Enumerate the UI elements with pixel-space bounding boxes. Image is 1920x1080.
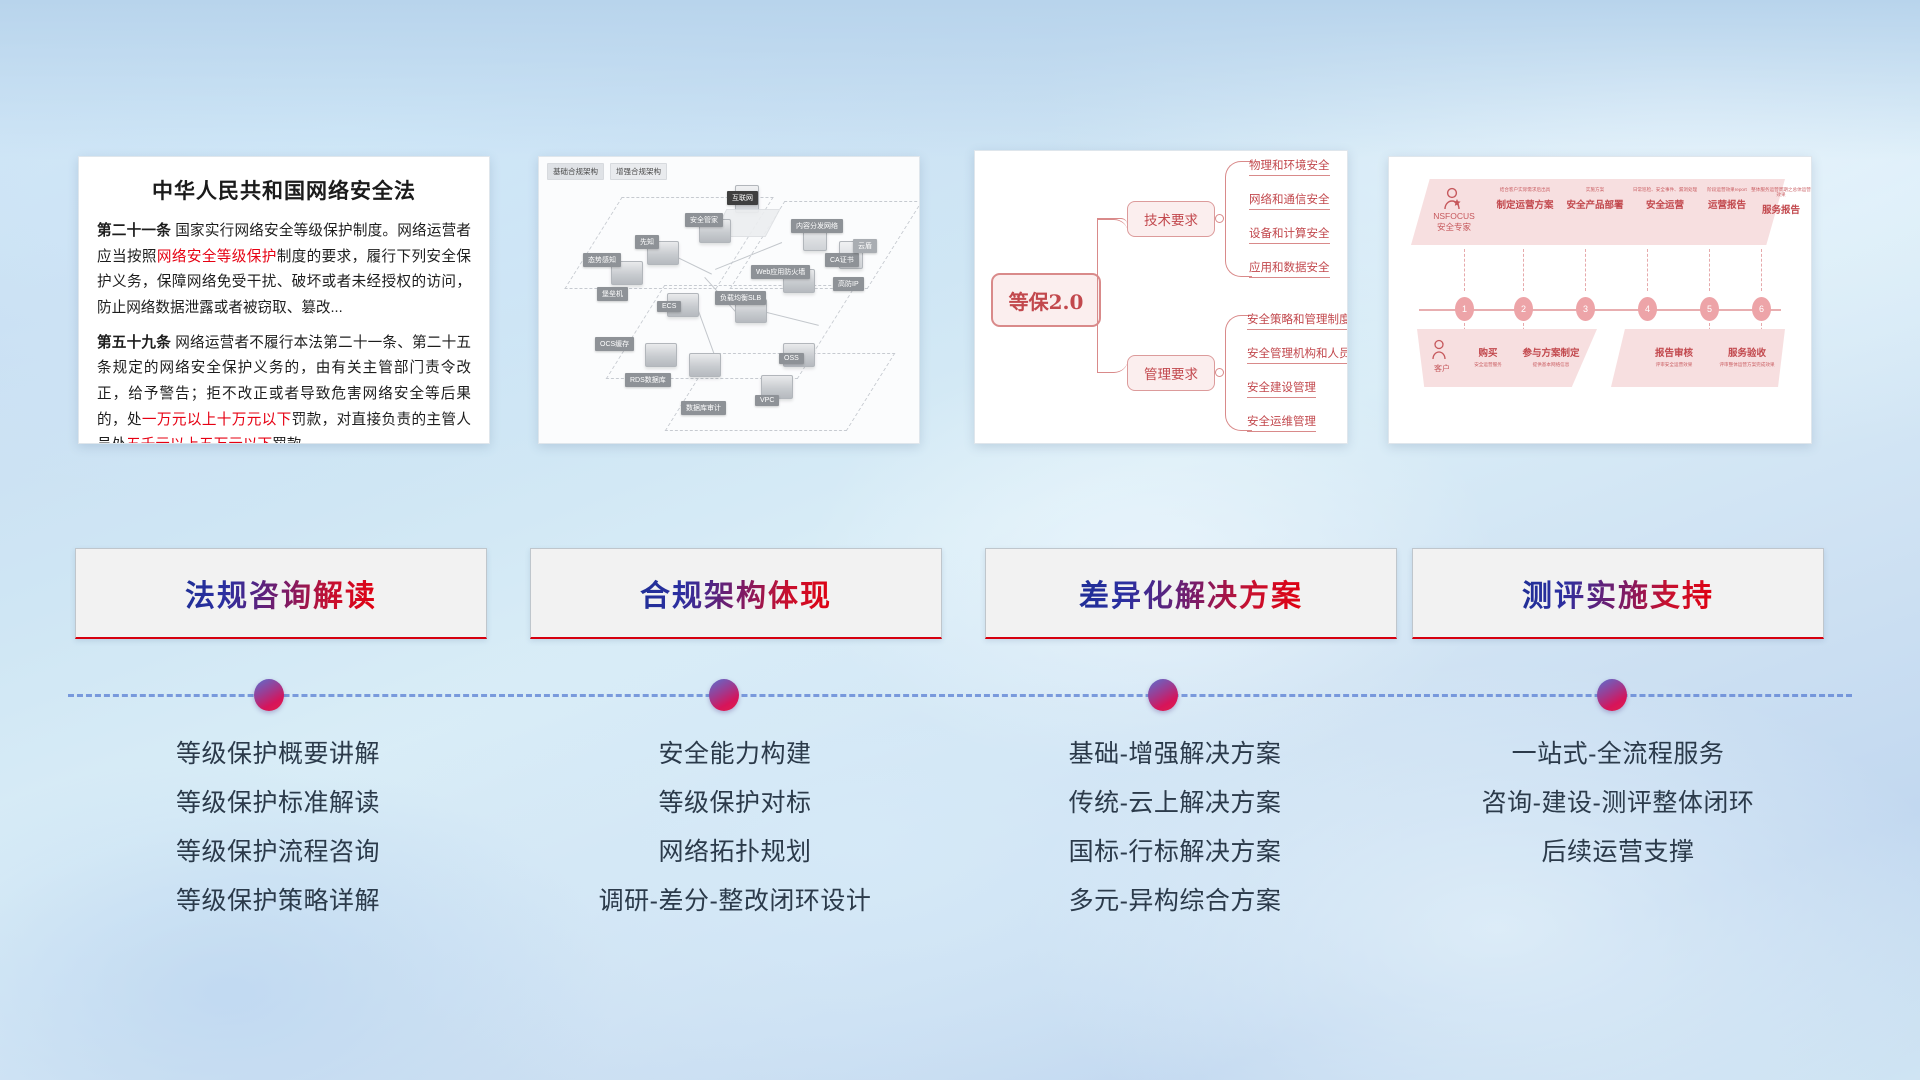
nsfocus-brand: NSFOCUS (1421, 211, 1487, 222)
feature-list-1: 等级保护概要讲解 等级保护标准解读 等级保护流程咨询 等级保护策略详解 (68, 742, 488, 938)
timeline-dashed-line (68, 694, 1852, 697)
title-label-4: 测评实施支持 (1522, 571, 1714, 615)
nsfocus-lower-left-2-desc: 提供基本网络信息 (1513, 362, 1589, 368)
mindmap-root-node[interactable]: 等保2.0 (991, 273, 1101, 327)
card-nsfocus-timeline[interactable]: NSFOCUS 安全专家 结合客户实际需求后出具 制定运营方案 实施方案 安全产… (1388, 156, 1812, 444)
list-item[interactable]: 等级保护流程咨询 (68, 840, 488, 865)
nsfocus-lower-right-1-title: 报告审核 (1641, 345, 1707, 359)
arch-node-anti-ddos-ip: 高防IP (833, 277, 864, 291)
mindmap-branch-management[interactable]: 管理要求 (1127, 355, 1215, 391)
nsfocus-drop-3 (1585, 249, 1586, 291)
feature-list-3-items: 基础-增强解决方案 传统-云上解决方案 国标-行标解决方案 多元-异构综合方案 (965, 742, 1385, 914)
arch-node-oss: OSS (779, 353, 804, 364)
timeline-dot-2[interactable] (709, 679, 739, 711)
list-item[interactable]: 调研-差分-整改闭环设计 (525, 889, 945, 914)
nsfocus-step-2[interactable]: 实施方案 安全产品部署 (1559, 187, 1631, 211)
nsfocus-drop-6 (1761, 249, 1762, 291)
nsfocus-drop-2 (1523, 249, 1524, 291)
arch-node-security-butler: 安全管家 (685, 213, 723, 227)
law-article-59-highlight-1: 一万元以上十万元以下 (142, 412, 292, 428)
nsfocus-lower-left-1-title: 购买 (1465, 345, 1511, 359)
nsfocus-lower-right-1-desc: 评审安全运营效果 (1641, 362, 1707, 368)
mindmap-leaf-tech-4[interactable]: 应用和数据安全 (1249, 259, 1330, 278)
arch-node-waf: Web应用防火墙 (751, 265, 810, 279)
law-article-21-label: 第二十一条 (97, 223, 171, 239)
arch-node-xianzhi: 先知 (635, 235, 659, 249)
mindmap-collapse-dot-management[interactable] (1215, 368, 1224, 377)
feature-list-2: 安全能力构建 等级保护对标 网络拓扑规划 调研-差分-整改闭环设计 (525, 742, 945, 938)
mindmap-leaf-mgmt-3[interactable]: 安全建设管理 (1247, 379, 1316, 398)
nsfocus-step-1-sub: 结合客户实际需求后出具 (1489, 187, 1561, 192)
nsfocus-lower-left-1[interactable]: 购买 安全运营服务 (1465, 345, 1511, 368)
title-box-compliance-architecture[interactable]: 合规架构体现 (530, 548, 942, 639)
architecture-tab-enhanced[interactable]: 增强合规架构 (610, 163, 667, 180)
list-item[interactable]: 传统-云上解决方案 (965, 791, 1385, 816)
arch-node-cdn: 内容分发网络 (791, 219, 843, 233)
list-item[interactable]: 等级保护概要讲解 (68, 742, 488, 767)
feature-list-2-items: 安全能力构建 等级保护对标 网络拓扑规划 调研-差分-整改闭环设计 (525, 742, 945, 914)
architecture-tab-group[interactable]: 基础合规架构 增强合规架构 (547, 163, 667, 180)
nsfocus-milestone-6[interactable]: 6 (1752, 297, 1771, 321)
nsfocus-lower-right-2-desc: 评审整体运营方案完成效果 (1711, 362, 1783, 368)
arch-node-situational-awareness: 态势感知 (583, 253, 621, 267)
arch-node-bastion: 堡垒机 (597, 287, 628, 301)
law-article-21: 第二十一条 国家实行网络安全等级保护制度。网络运营者应当按照网络安全等级保护制度… (97, 219, 471, 322)
nsfocus-lower-right-1[interactable]: 报告审核 评审安全运营效果 (1641, 345, 1707, 368)
nsfocus-drop-5 (1709, 249, 1710, 291)
list-item[interactable]: 基础-增强解决方案 (965, 742, 1385, 767)
feature-list-4-items: 一站式-全流程服务 咨询-建设-测评整体闭环 后续运营支撑 (1408, 742, 1828, 865)
nsfocus-step-2-sub: 实施方案 (1559, 187, 1631, 192)
feature-list-1-items: 等级保护概要讲解 等级保护标准解读 等级保护流程咨询 等级保护策略详解 (68, 742, 488, 914)
architecture-tab-basic[interactable]: 基础合规架构 (547, 163, 604, 180)
arch-node-ca-cert: CA证书 (825, 253, 859, 267)
list-item[interactable]: 国标-行标解决方案 (965, 840, 1385, 865)
list-item[interactable]: 咨询-建设-测评整体闭环 (1408, 791, 1828, 816)
nsfocus-step-5-main: 服务报告 (1749, 202, 1812, 216)
title-label-2: 合规架构体现 (640, 571, 832, 615)
mindmap-canvas: 等保2.0 技术要求 管理要求 物理和环境安全 网络和通信安全 设备和计算安全 … (975, 151, 1347, 443)
law-body: 中华人民共和国网络安全法 第二十一条 国家实行网络安全等级保护制度。网络运营者应… (79, 157, 489, 443)
law-article-59-label: 第五十九条 (97, 335, 171, 351)
nsfocus-canvas: NSFOCUS 安全专家 结合客户实际需求后出具 制定运营方案 实施方案 安全产… (1389, 157, 1811, 443)
mindmap-leaf-tech-2[interactable]: 网络和通信安全 (1249, 191, 1330, 210)
architecture-canvas: 基础合规架构 增强合规架构 (539, 157, 919, 443)
arch-node-slb: 负载均衡SLB (715, 291, 766, 305)
nsfocus-lower-left-1-desc: 安全运营服务 (1465, 362, 1511, 368)
mindmap-collapse-dot-technical[interactable] (1215, 214, 1224, 223)
nsfocus-lower-right-2-title: 服务验收 (1711, 345, 1783, 359)
feature-list-4: 一站式-全流程服务 咨询-建设-测评整体闭环 后续运营支撑 (1408, 742, 1828, 889)
arch-node-ecs: ECS (657, 301, 681, 312)
nsfocus-expert-label: NSFOCUS 安全专家 (1421, 185, 1487, 232)
title-label-1: 法规咨询解读 (185, 571, 377, 615)
nsfocus-lower-left-2-title: 参与方案制定 (1513, 345, 1589, 359)
timeline-dot-1[interactable] (254, 679, 284, 711)
list-item[interactable]: 等级保护标准解读 (68, 791, 488, 816)
nsfocus-step-5-sub: 整体服务运营周期之总体运营效果 (1749, 187, 1812, 197)
law-article-59-text-c: 罚款。 (272, 437, 316, 444)
list-item[interactable]: 等级保护对标 (525, 791, 945, 816)
timeline-dot-4[interactable] (1597, 679, 1627, 711)
nsfocus-step-1-main: 制定运营方案 (1489, 197, 1561, 211)
law-article-21-highlight: 网络安全等级保护 (157, 249, 277, 265)
screenshot-card-row: 中华人民共和国网络安全法 第二十一条 国家实行网络安全等级保护制度。网络运营者应… (0, 0, 1920, 460)
arch-node-yundun: 云盾 (853, 239, 877, 253)
timeline-dot-3[interactable] (1148, 679, 1178, 711)
title-box-differentiated-solution[interactable]: 差异化解决方案 (985, 548, 1397, 639)
list-item[interactable]: 后续运营支撑 (1408, 840, 1828, 865)
nsfocus-step-3-sub: 日常巡检、安全事件、漏洞处理 (1627, 187, 1703, 192)
title-box-regulation-consulting[interactable]: 法规咨询解读 (75, 548, 487, 639)
title-box-assessment-support[interactable]: 测评实施支持 (1412, 548, 1824, 639)
mindmap-leaf-tech-3[interactable]: 设备和计算安全 (1249, 225, 1330, 244)
arch-device-ocs (645, 343, 677, 367)
list-item[interactable]: 一站式-全流程服务 (1408, 742, 1828, 767)
nsfocus-customer-label: 客户 (1425, 363, 1459, 374)
law-article-59-highlight-2: 五千元以上五万元以下 (126, 437, 272, 444)
nsfocus-step-1[interactable]: 结合客户实际需求后出具 制定运营方案 (1489, 187, 1561, 211)
mindmap-leaf-mgmt-4[interactable]: 安全运维管理 (1247, 413, 1316, 432)
mindmap-leaf-mgmt-2[interactable]: 安全管理机构和人员 (1247, 345, 1348, 364)
nsfocus-milestone-2[interactable]: 2 (1514, 297, 1533, 321)
card-cybersecurity-law[interactable]: 中华人民共和国网络安全法 第二十一条 国家实行网络安全等级保护制度。网络运营者应… (78, 156, 490, 444)
mindmap-fan-technical (1225, 161, 1252, 277)
nsfocus-step-3[interactable]: 日常巡检、安全事件、漏洞处理 安全运营 (1627, 187, 1703, 211)
card-mindmap-dengbao[interactable]: 等保2.0 技术要求 管理要求 物理和环境安全 网络和通信安全 设备和计算安全 … (974, 150, 1348, 444)
law-title: 中华人民共和国网络安全法 (97, 175, 471, 205)
arch-node-vpc: VPC (755, 395, 779, 406)
arch-node-db-audit: 数据库审计 (681, 401, 726, 415)
customer-person-icon (1429, 339, 1449, 361)
nsfocus-drop-1 (1464, 249, 1465, 291)
nsfocus-drop-4 (1647, 249, 1648, 291)
mindmap-root-spine-upper (1097, 218, 1127, 299)
list-item[interactable]: 多元-异构综合方案 (965, 889, 1385, 914)
list-item[interactable]: 等级保护策略详解 (68, 889, 488, 914)
nsfocus-milestone-5[interactable]: 5 (1700, 297, 1719, 321)
mindmap-root-spine-lower (1097, 298, 1127, 372)
title-label-3: 差异化解决方案 (1079, 571, 1303, 615)
mindmap-branch-technical[interactable]: 技术要求 (1127, 201, 1215, 237)
nsfocus-milestone-4[interactable]: 4 (1638, 297, 1657, 321)
nsfocus-lower-left-2[interactable]: 参与方案制定 提供基本网络信息 (1513, 345, 1589, 368)
nsfocus-lower-right-2[interactable]: 服务验收 评审整体运营方案完成效果 (1711, 345, 1783, 368)
nsfocus-milestone-3[interactable]: 3 (1576, 297, 1595, 321)
nsfocus-step-3-main: 安全运营 (1627, 197, 1703, 211)
arch-device-rds (689, 353, 721, 377)
law-article-59: 第五十九条 网络运营者不履行本法第二十一条、第二十五条规定的网络安全保护义务的，… (97, 331, 471, 444)
arch-node-internet: 互联网 (727, 191, 758, 205)
nsfocus-milestone-1[interactable]: 1 (1455, 297, 1474, 321)
list-item[interactable]: 安全能力构建 (525, 742, 945, 767)
arch-node-ocs-cache: OCS缓存 (595, 337, 634, 351)
nsfocus-step-5[interactable]: 整体服务运营周期之总体运营效果 服务报告 (1749, 187, 1812, 216)
nsfocus-role: 安全专家 (1421, 222, 1487, 233)
feature-list-3: 基础-增强解决方案 传统-云上解决方案 国标-行标解决方案 多元-异构综合方案 (965, 742, 1385, 938)
list-item[interactable]: 网络拓扑规划 (525, 840, 945, 865)
mindmap-leaf-mgmt-1[interactable]: 安全策略和管理制度 (1247, 311, 1348, 330)
arch-node-rds-db: RDS数据库 (625, 373, 671, 387)
nsfocus-step-2-main: 安全产品部署 (1559, 197, 1631, 211)
card-architecture-diagram[interactable]: 基础合规架构 增强合规架构 (538, 156, 920, 444)
mindmap-leaf-tech-1[interactable]: 物理和环境安全 (1249, 157, 1330, 176)
